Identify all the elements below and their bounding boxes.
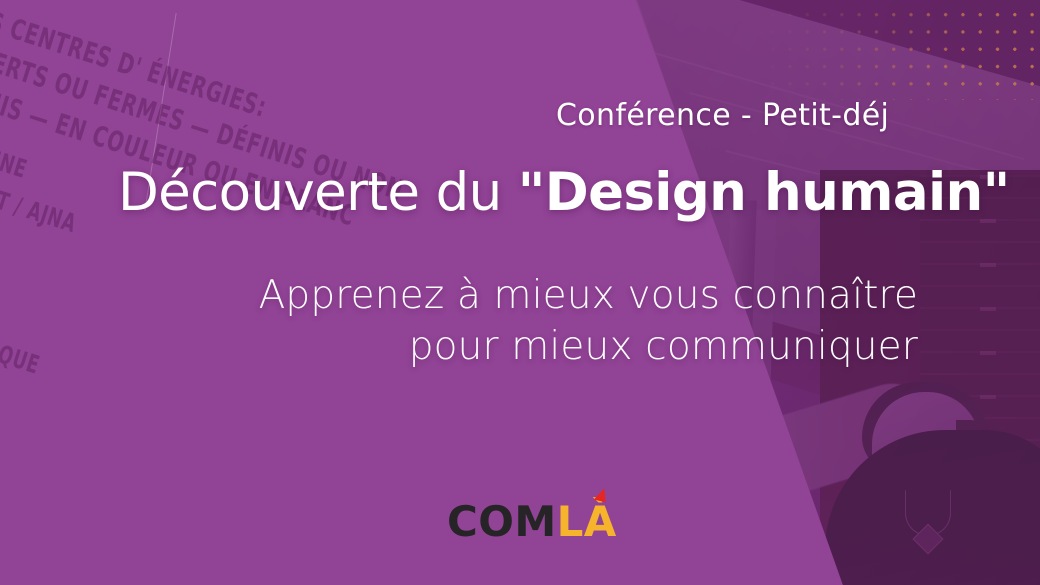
page-title: Découverte du "Design humain" (118, 165, 1010, 220)
logo-text-la: LÀ (557, 497, 617, 546)
purple-wedge-bottom (0, 345, 520, 585)
dot-grid-decoration (760, 0, 1040, 100)
title-light-part: Découverte du (118, 162, 518, 223)
logo-la-label: LÀ (557, 497, 617, 546)
event-subtitle: Apprenez à mieux vous connaître pour mie… (0, 270, 918, 373)
logo-text-com: COM (447, 497, 557, 546)
title-bold-part: "Design humain" (518, 162, 1010, 223)
subtitle-line: pour mieux communiquer (0, 321, 918, 372)
comla-logo[interactable]: COMLÀ (447, 501, 617, 543)
logo-accent-mark (593, 487, 607, 502)
event-kicker: Conférence - Petit-déj (556, 98, 889, 133)
subtitle-line: Apprenez à mieux vous connaître (0, 270, 918, 321)
conference-banner: 64 61 63 24 43 26 51 21 40 45 15 46 36 5… (0, 0, 1040, 585)
